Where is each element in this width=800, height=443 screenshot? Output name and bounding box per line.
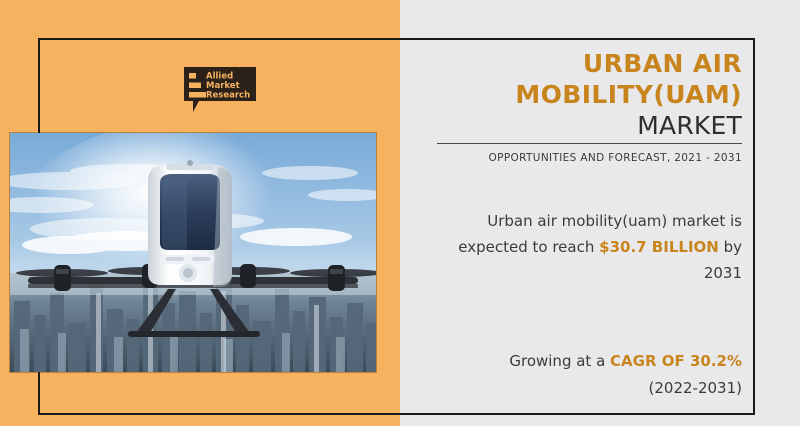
title-line-3: MARKET xyxy=(637,111,742,140)
hero-photo-passenger-drone xyxy=(10,133,376,372)
title-line-1: URBAN AIR xyxy=(583,49,742,78)
headline-block: URBAN AIR MOBILITY(UAM) MARKET xyxy=(420,48,742,141)
cagr-prefix: Growing at a xyxy=(509,352,610,370)
allied-market-research-logo: Allied Market Research Allied Market Res… xyxy=(182,66,258,114)
market-size-value: $30.7 BILLION xyxy=(599,238,719,256)
cagr-value: CAGR OF 30.2% xyxy=(610,352,742,370)
cagr-statement: Growing at a CAGR OF 30.2% (2022-2031) xyxy=(420,348,742,402)
page-title: URBAN AIR MOBILITY(UAM) MARKET xyxy=(420,48,742,141)
title-divider xyxy=(437,143,742,144)
market-size-statement: Urban air mobility(uam) market is expect… xyxy=(420,208,742,286)
title-line-2: MOBILITY(UAM) xyxy=(515,80,742,109)
svg-text:Market: Market xyxy=(206,81,240,91)
infographic-poster: Allied Market Research Allied Market Res… xyxy=(0,0,800,443)
svg-text:Research: Research xyxy=(206,91,250,101)
svg-text:Allied: Allied xyxy=(206,72,233,82)
subtitle: OPPORTUNITIES AND FORECAST, 2021 - 2031 xyxy=(420,152,742,164)
cagr-period: (2022-2031) xyxy=(649,379,742,397)
